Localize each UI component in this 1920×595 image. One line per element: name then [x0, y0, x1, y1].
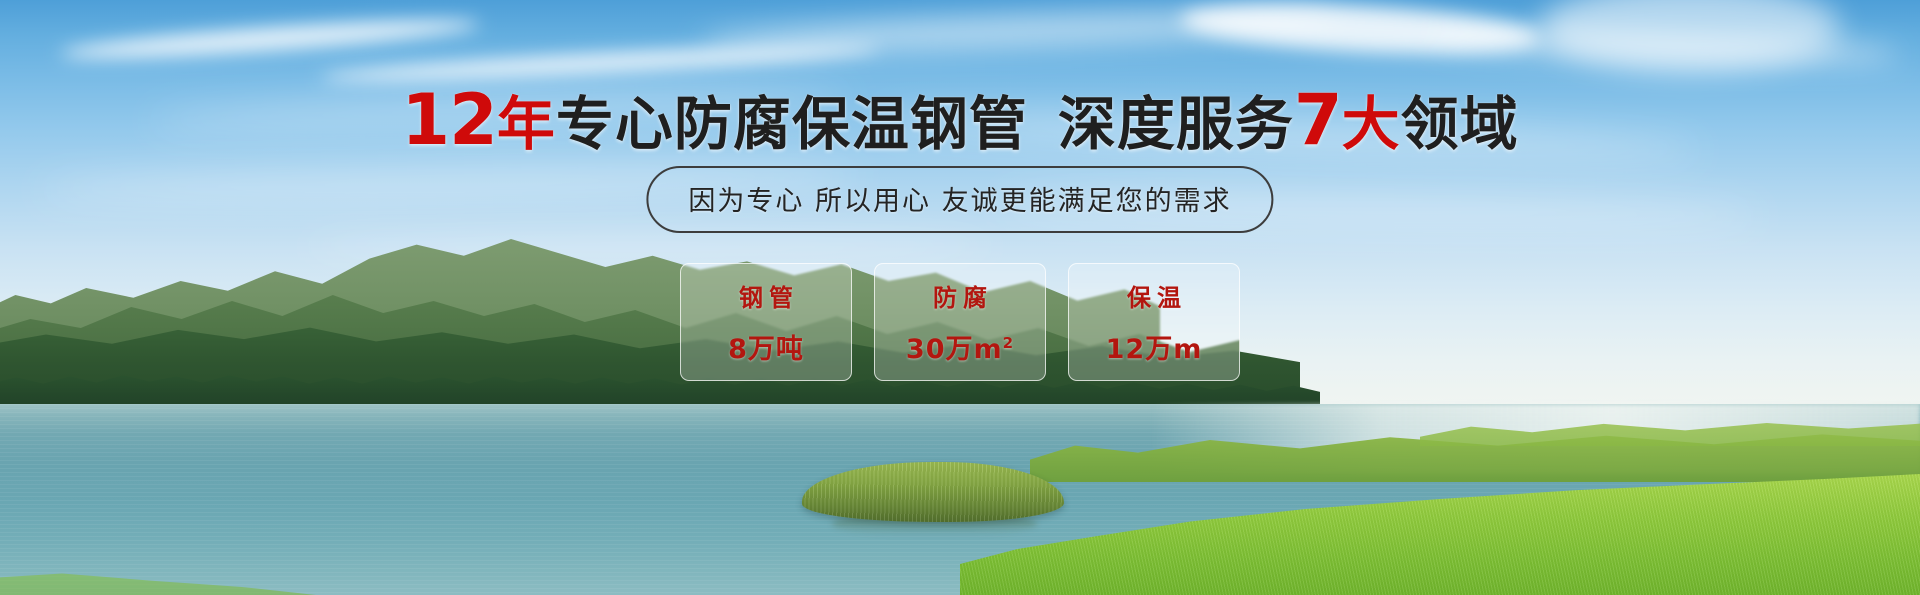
- headline-years-unit: 年: [497, 90, 556, 158]
- cloud-streak: [1179, 0, 1541, 61]
- stat-card-label: 保温: [1121, 278, 1187, 313]
- stat-card-insulation[interactable]: 保温 12万m: [1068, 263, 1240, 381]
- headline-focus-text: 专心防腐保温钢管: [556, 90, 1028, 158]
- stat-card-value: 30万m2: [906, 327, 1014, 366]
- stat-card-value-sup: 2: [1003, 334, 1014, 352]
- stat-card-label: 防腐: [927, 278, 993, 313]
- promo-banner: 12年专心防腐保温钢管深度服务7大领域 因为专心 所以用心 友诚更能满足您的需求…: [0, 0, 1920, 595]
- headline-service-text: 深度服务: [1058, 90, 1294, 158]
- headline-fields-number: 7: [1294, 79, 1342, 161]
- stat-card-value: 8万吨: [728, 327, 804, 366]
- cloud-bright: [1540, 0, 1840, 72]
- stat-card-steel-pipe[interactable]: 钢管 8万吨: [680, 263, 852, 381]
- headline: 12年专心防腐保温钢管深度服务7大领域: [0, 84, 1920, 158]
- subtitle-pill: 因为专心 所以用心 友诚更能满足您的需求: [646, 166, 1273, 233]
- stat-card-value-base: 12万m: [1106, 334, 1203, 365]
- headline-fields-tail: 领域: [1401, 90, 1519, 158]
- stat-card-label: 钢管: [733, 278, 799, 313]
- stat-card-value-base: 30万m: [906, 334, 1003, 365]
- stat-card-value-base: 8万吨: [728, 334, 804, 365]
- headline-years-number: 12: [401, 79, 496, 161]
- stat-card-anticorrosion[interactable]: 防腐 30万m2: [874, 263, 1046, 381]
- cloud-streak: [1430, 26, 1901, 68]
- headline-fields-unit: 大: [1342, 90, 1401, 158]
- cloud-streak: [700, 5, 1341, 57]
- cloud-streak: [60, 13, 481, 64]
- stat-card-value: 12万m: [1106, 327, 1203, 366]
- cloud-streak: [300, 236, 1000, 258]
- stat-card-group: 钢管 8万吨 防腐 30万m2 保温 12万m: [680, 263, 1240, 381]
